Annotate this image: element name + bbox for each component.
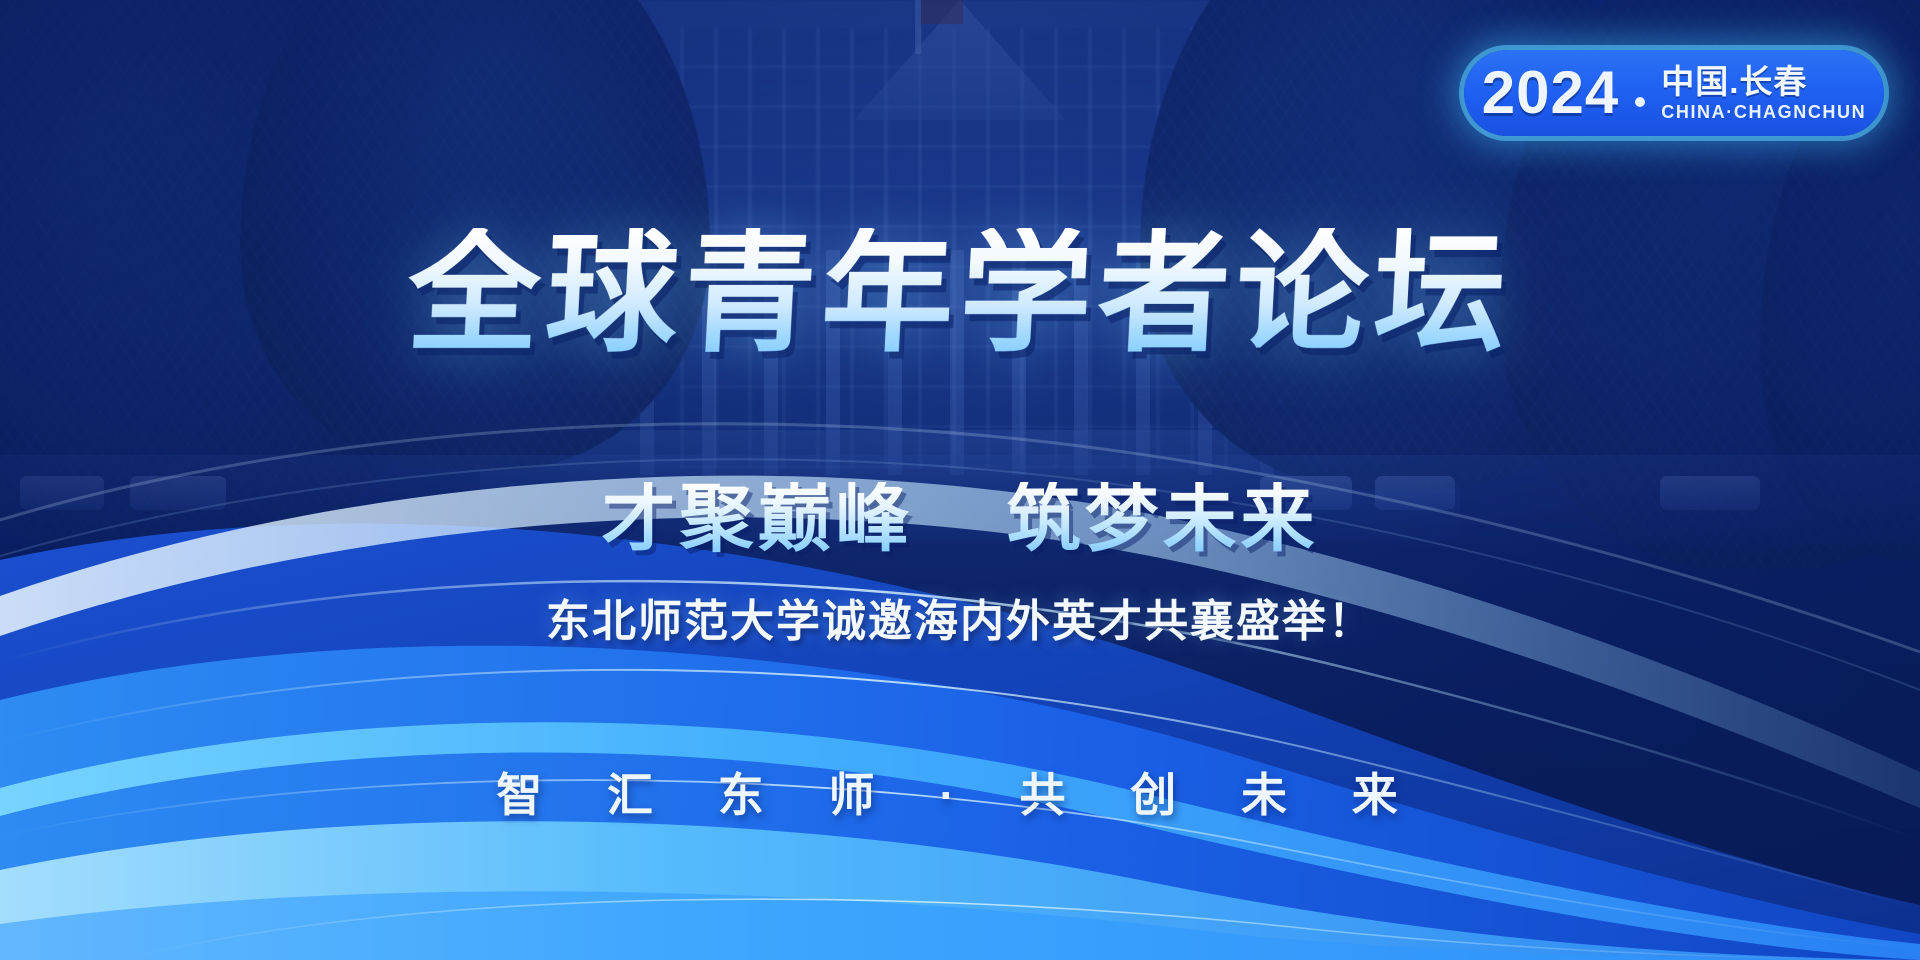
poster-headline: 全球青年学者论坛	[0, 228, 1920, 360]
poster-subline: 才聚巅峰 筑梦未来	[0, 482, 1920, 556]
invitation-line: 东北师范大学诚邀海内外英才共襄盛举！	[0, 600, 1920, 644]
banner-poster: 2024 中国.长春 CHINA·CHAGNCHUN 全球青年学者论坛 才聚巅峰…	[0, 0, 1920, 960]
subline-right: 筑梦未来	[1007, 477, 1319, 560]
bottom-slogan: 智 汇 东 师 · 共 创 未 来	[0, 772, 1920, 818]
subline-left: 才聚巅峰	[601, 477, 913, 560]
poster-copy: 全球青年学者论坛 才聚巅峰 筑梦未来 东北师范大学诚邀海内外英才共襄盛举！ 智 …	[0, 0, 1920, 960]
